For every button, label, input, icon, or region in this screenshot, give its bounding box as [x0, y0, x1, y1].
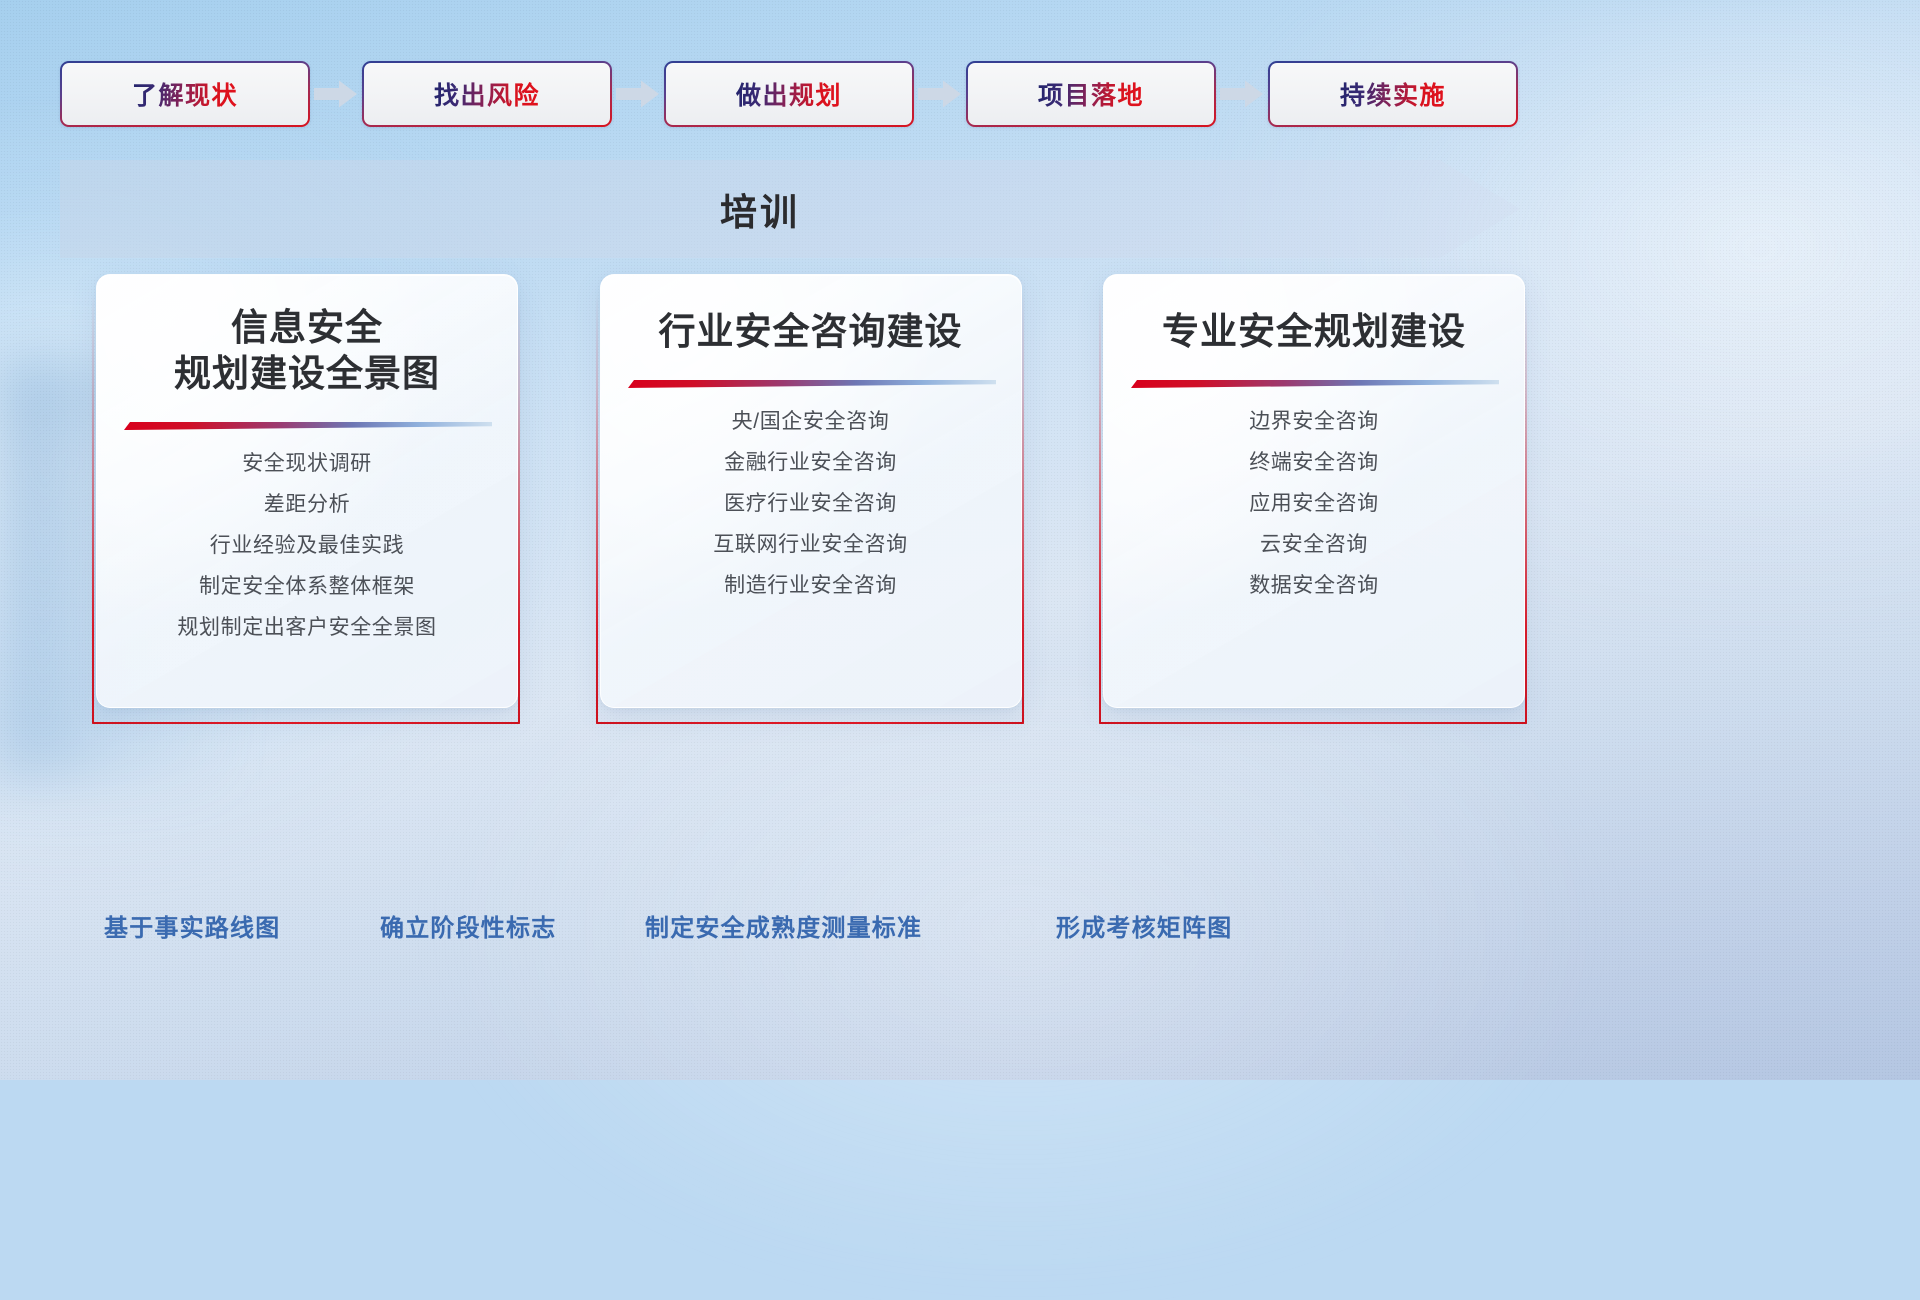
- card-2-list-item: 央/国企安全咨询: [732, 405, 890, 435]
- footer-label-roadmap: 基于事实路线图: [104, 908, 280, 943]
- card-wrap-2: 行业安全咨询建设: [596, 274, 1024, 714]
- step-box-2[interactable]: 找出风险: [362, 61, 612, 127]
- card-1-title: 信息安全 规划建设全景图: [156, 305, 458, 397]
- card-2-list-item: 医疗行业安全咨询: [724, 487, 897, 517]
- card-2-title: 行业安全咨询建设: [641, 309, 981, 355]
- footer-label-maturity: 制定安全成熟度测量标准: [645, 908, 922, 943]
- card-1-list-item: 制定安全体系整体框架: [199, 570, 415, 600]
- card-3-list-item: 数据安全咨询: [1249, 569, 1379, 599]
- card-3-list-item: 云安全咨询: [1260, 528, 1368, 558]
- footer-label-milestone: 确立阶段性标志: [380, 908, 556, 943]
- card-2-red-edge-right: [1022, 292, 1024, 724]
- card-1-red-edge-bottom: [92, 722, 520, 724]
- step-box-3[interactable]: 做出规划: [664, 61, 914, 127]
- card-3-red-edge-left: [1099, 292, 1101, 724]
- card-1-list-item: 规划制定出客户安全全景图: [177, 611, 436, 641]
- card-2-list-item: 金融行业安全咨询: [724, 446, 897, 476]
- card-1-list-item: 安全现状调研: [242, 447, 372, 477]
- background-glow-bottom: [420, 680, 1620, 1300]
- step-box-2-inner: 找出风险: [364, 63, 610, 125]
- step-label-2: 找出风险: [434, 76, 540, 112]
- card-row: 信息安全 规划建设全景图: [92, 274, 1527, 714]
- card-3-divider-icon: [1129, 377, 1499, 391]
- step-label-1: 了解现状: [132, 76, 238, 112]
- footer-label-row: 基于事实路线图 确立阶段性标志 制定安全成熟度测量标准 形成考核矩阵图: [0, 908, 1920, 952]
- step-arrow-icon-3: [914, 63, 966, 125]
- card-1-list-item: 差距分析: [264, 488, 350, 518]
- card-industry-security-consulting[interactable]: 行业安全咨询建设: [600, 274, 1022, 708]
- card-3-list-item: 应用安全咨询: [1249, 487, 1379, 517]
- card-2-red-edge-bottom: [596, 722, 1024, 724]
- step-box-1[interactable]: 了解现状: [60, 61, 310, 127]
- step-box-4-inner: 项目落地: [968, 63, 1214, 125]
- card-2-divider-icon: [626, 377, 996, 391]
- card-1-list-item: 行业经验及最佳实践: [210, 529, 404, 559]
- training-banner-arrow: 培训: [60, 160, 1520, 258]
- card-3-red-edge-right: [1525, 292, 1527, 724]
- card-1-red-edge-left: [92, 292, 94, 724]
- step-box-4[interactable]: 项目落地: [966, 61, 1216, 127]
- step-box-5[interactable]: 持续实施: [1268, 61, 1518, 127]
- card-wrap-1: 信息安全 规划建设全景图: [92, 274, 520, 714]
- card-information-security-blueprint[interactable]: 信息安全 规划建设全景图: [96, 274, 518, 708]
- step-arrow-icon-4: [1216, 63, 1268, 125]
- card-1-list: 安全现状调研 差距分析 行业经验及最佳实践 制定安全体系整体框架 规划制定出客户…: [97, 447, 517, 641]
- footer-label-matrix: 形成考核矩阵图: [1056, 908, 1232, 943]
- step-label-3: 做出规划: [736, 76, 842, 112]
- card-3-list-item: 终端安全咨询: [1249, 446, 1379, 476]
- card-1-divider-icon: [122, 419, 492, 433]
- card-3-red-edge-bottom: [1099, 722, 1527, 724]
- step-box-1-inner: 了解现状: [62, 63, 308, 125]
- card-3-title: 专业安全规划建设: [1144, 309, 1484, 355]
- step-arrow-icon-2: [612, 63, 664, 125]
- card-3-list: 边界安全咨询 终端安全咨询 应用安全咨询 云安全咨询 数据安全咨询: [1104, 405, 1524, 599]
- step-box-3-inner: 做出规划: [666, 63, 912, 125]
- card-wrap-3: 专业安全规划建设: [1099, 274, 1527, 714]
- card-professional-security-planning[interactable]: 专业安全规划建设: [1103, 274, 1525, 708]
- training-banner-label-wrap: 培训: [60, 160, 1460, 258]
- process-step-row: 了解现状 找出风险 做出规划 项目落地: [60, 63, 1570, 125]
- card-2-list-item: 制造行业安全咨询: [724, 569, 897, 599]
- step-label-5: 持续实施: [1340, 76, 1446, 112]
- training-banner-label: 培训: [720, 182, 800, 236]
- card-2-red-edge-left: [596, 292, 598, 724]
- card-2-list: 央/国企安全咨询 金融行业安全咨询 医疗行业安全咨询 互联网行业安全咨询 制造行…: [601, 405, 1021, 599]
- step-arrow-icon-1: [310, 63, 362, 125]
- card-3-list-item: 边界安全咨询: [1249, 405, 1379, 435]
- card-1-red-edge-right: [518, 292, 520, 724]
- step-box-5-inner: 持续实施: [1270, 63, 1516, 125]
- card-2-list-item: 互联网行业安全咨询: [713, 528, 907, 558]
- step-label-4: 项目落地: [1038, 76, 1144, 112]
